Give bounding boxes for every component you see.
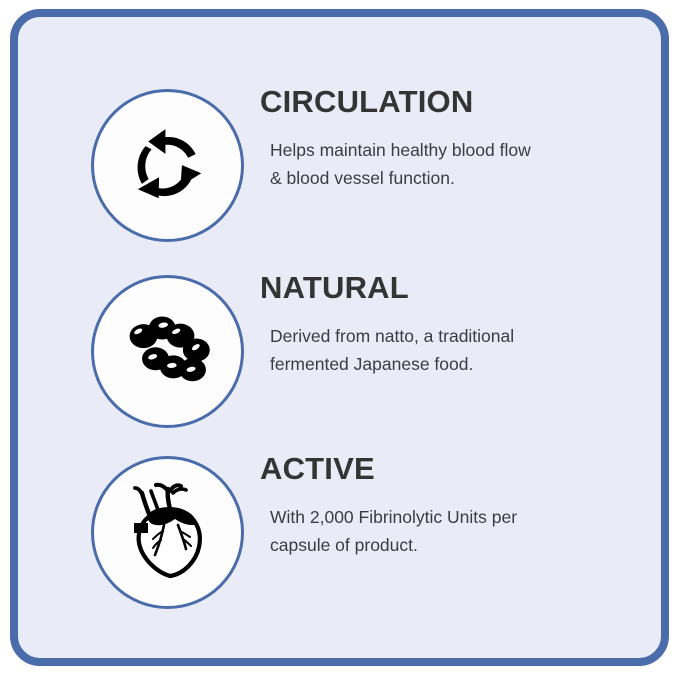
- feature-description-line: With 2,000 Fibrinolytic Units per: [270, 503, 650, 531]
- feature-item-active: ACTIVE With 2,000 Fibrinolytic Units per…: [18, 452, 658, 632]
- feature-description-line: Helps maintain healthy blood flow: [270, 136, 650, 164]
- icon-badge-active: [91, 456, 244, 609]
- feature-text-active: ACTIVE With 2,000 Fibrinolytic Units per…: [260, 452, 650, 559]
- feature-description-line: Derived from natto, a traditional: [270, 322, 650, 350]
- feature-description: Helps maintain healthy blood flow & bloo…: [260, 119, 650, 192]
- feature-description-line: & blood vessel function.: [270, 164, 650, 192]
- feature-description: Derived from natto, a traditional fermen…: [260, 305, 650, 378]
- feature-description-line: capsule of product.: [270, 531, 650, 559]
- feature-item-natural: NATURAL Derived from natto, a traditiona…: [18, 271, 658, 451]
- soybeans-icon: [120, 304, 216, 400]
- feature-title: NATURAL: [260, 271, 650, 305]
- circular-arrows-icon: [116, 114, 220, 218]
- feature-title: ACTIVE: [260, 452, 650, 486]
- feature-title: CIRCULATION: [260, 85, 650, 119]
- feature-description: With 2,000 Fibrinolytic Units per capsul…: [260, 486, 650, 559]
- feature-description-line: fermented Japanese food.: [270, 350, 650, 378]
- feature-item-circulation: CIRCULATION Helps maintain healthy blood…: [18, 85, 658, 265]
- icon-badge-natural: [91, 275, 244, 428]
- feature-text-natural: NATURAL Derived from natto, a traditiona…: [260, 271, 650, 378]
- icon-badge-circulation: [91, 89, 244, 242]
- feature-text-circulation: CIRCULATION Helps maintain healthy blood…: [260, 85, 650, 192]
- feature-poster: CIRCULATION Helps maintain healthy blood…: [0, 0, 679, 679]
- anatomical-heart-icon: [118, 479, 218, 587]
- poster-frame: CIRCULATION Helps maintain healthy blood…: [10, 9, 669, 666]
- feature-list: CIRCULATION Helps maintain healthy blood…: [18, 17, 677, 674]
